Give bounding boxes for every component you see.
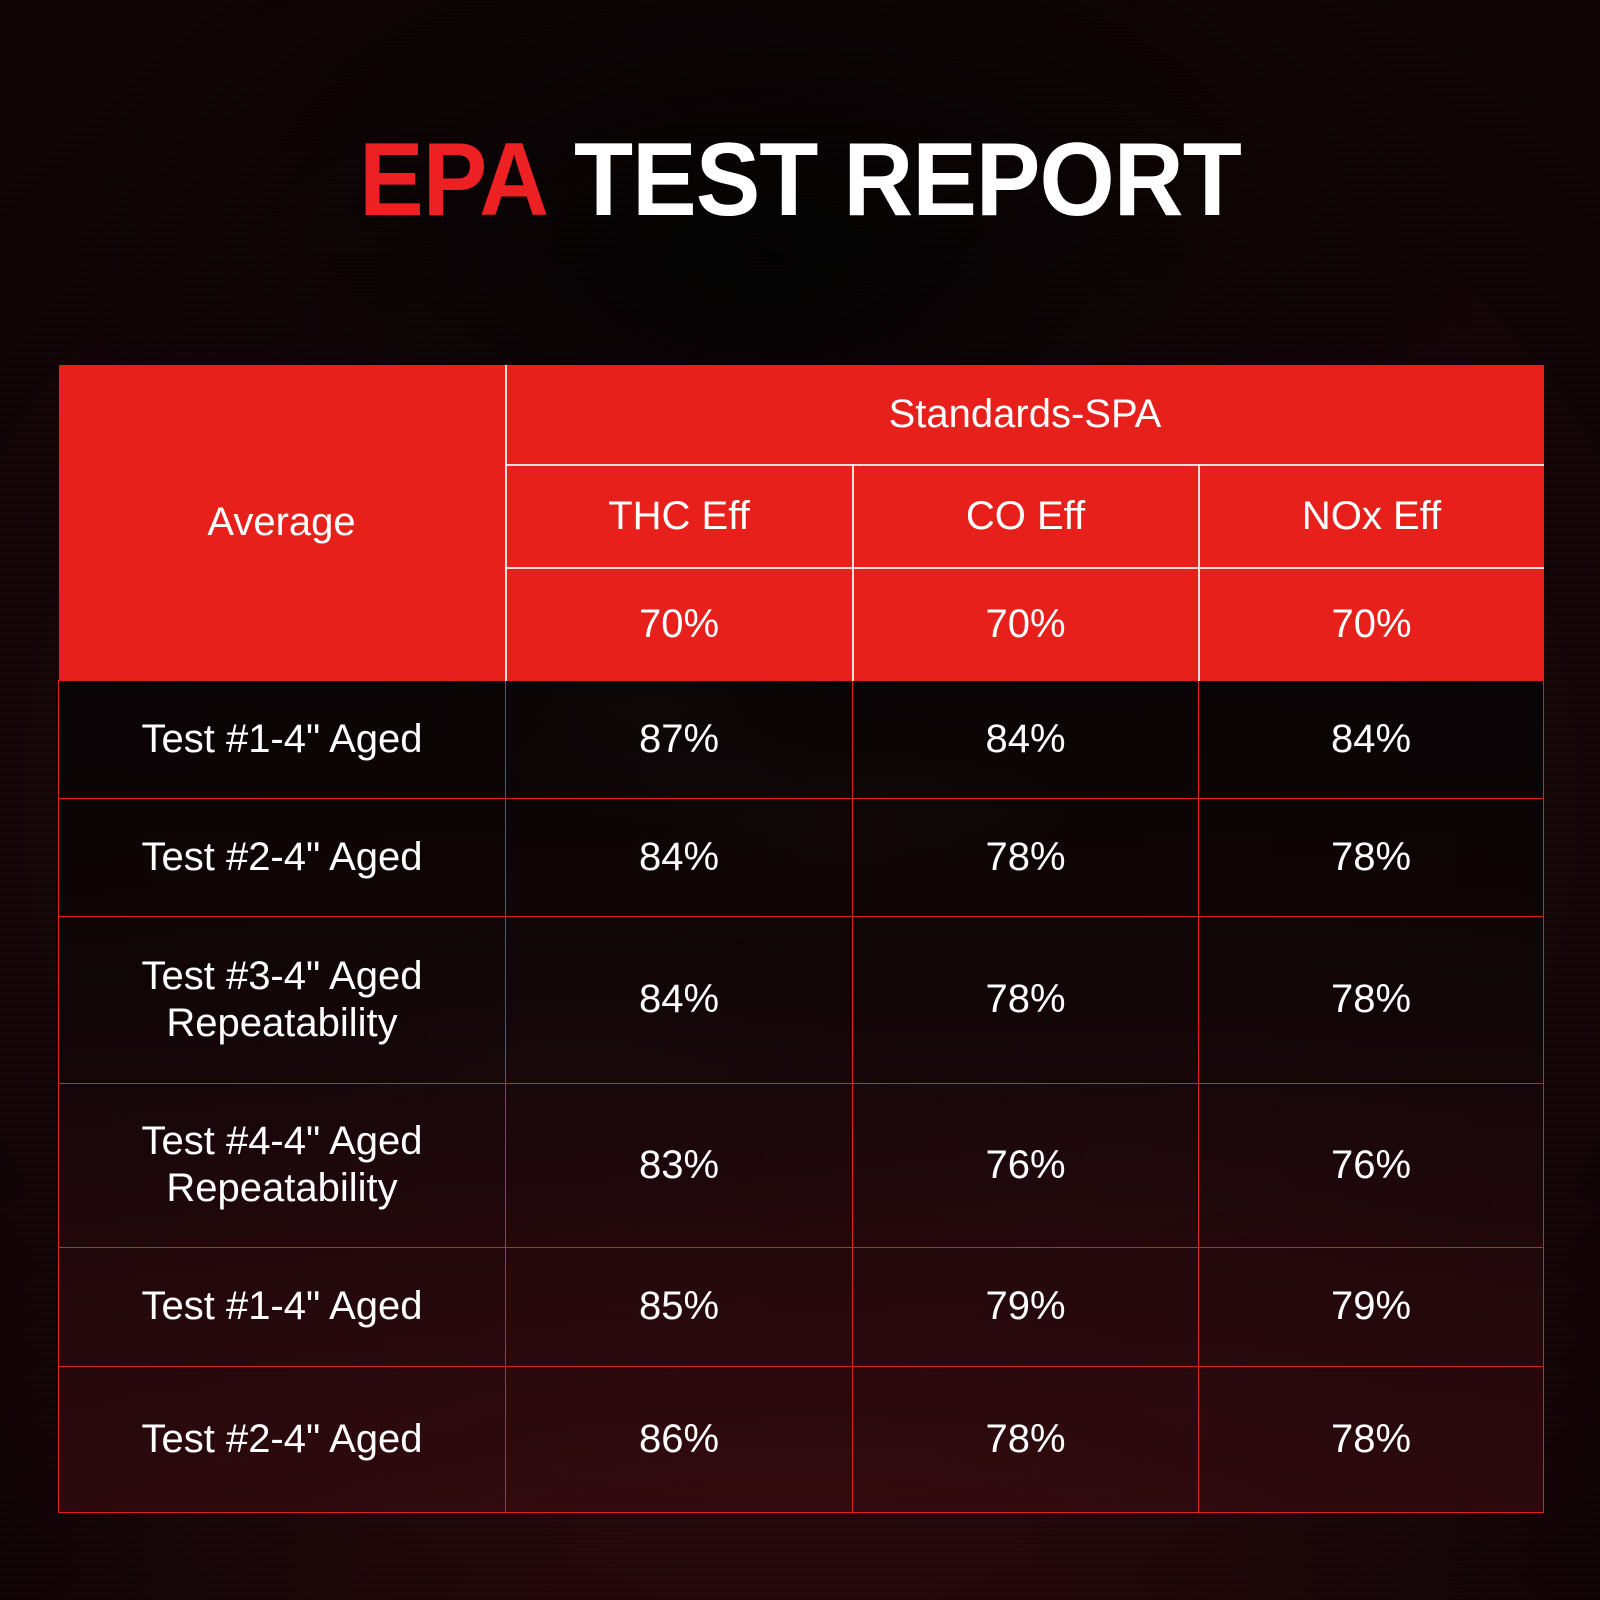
row-label: Test #2-4" Aged xyxy=(59,1366,506,1512)
cell-co: 78% xyxy=(853,798,1199,916)
table-row: Test #1-4" Aged 85% 79% 79% xyxy=(59,1248,1544,1366)
table-header: Average Standards-SPA THC Eff CO Eff NOx… xyxy=(59,365,1544,680)
standard-value-co: 70% xyxy=(853,568,1199,680)
page-title: EPA TEST REPORT xyxy=(56,128,1544,232)
table-row: Test #1-4" Aged 87% 84% 84% xyxy=(59,680,1544,798)
cell-nox: 79% xyxy=(1199,1248,1544,1366)
header-average-label: Average xyxy=(59,365,506,680)
row-label: Test #1-4" Aged xyxy=(59,680,506,798)
cell-co: 76% xyxy=(853,1083,1199,1247)
cell-nox: 76% xyxy=(1199,1083,1544,1247)
cell-thc: 87% xyxy=(506,680,853,798)
title-accent: EPA xyxy=(359,122,548,238)
cell-thc: 84% xyxy=(506,917,853,1084)
cell-co: 78% xyxy=(853,1366,1199,1512)
row-label: Test #2-4" Aged xyxy=(59,798,506,916)
table-body: Test #1-4" Aged 87% 84% 84% Test #2-4" A… xyxy=(59,680,1544,1513)
cell-co: 84% xyxy=(853,680,1199,798)
standard-value-nox: 70% xyxy=(1199,568,1544,680)
table-row: Test #2-4" Aged 86% 78% 78% xyxy=(59,1366,1544,1512)
cell-co: 79% xyxy=(853,1248,1199,1366)
header-row-group: Average Standards-SPA xyxy=(59,365,1544,465)
table-row: Test #4-4" Aged Repeatability 83% 76% 76… xyxy=(59,1083,1544,1247)
cell-nox: 78% xyxy=(1199,798,1544,916)
cell-nox: 78% xyxy=(1199,917,1544,1084)
table-row: Test #3-4" Aged Repeatability 84% 78% 78… xyxy=(59,917,1544,1084)
header-standards-spa: Standards-SPA xyxy=(506,365,1544,465)
table-row: Test #2-4" Aged 84% 78% 78% xyxy=(59,798,1544,916)
cell-co: 78% xyxy=(853,917,1199,1084)
row-label: Test #4-4" Aged Repeatability xyxy=(59,1083,506,1247)
column-header-nox: NOx Eff xyxy=(1199,465,1544,568)
row-label: Test #1-4" Aged xyxy=(59,1248,506,1366)
title-rest: TEST REPORT xyxy=(574,122,1241,238)
standard-value-thc: 70% xyxy=(506,568,853,680)
cell-thc: 85% xyxy=(506,1248,853,1366)
column-header-co: CO Eff xyxy=(853,465,1199,568)
cell-thc: 83% xyxy=(506,1083,853,1247)
cell-nox: 78% xyxy=(1199,1366,1544,1512)
cell-thc: 86% xyxy=(506,1366,853,1512)
cell-thc: 84% xyxy=(506,798,853,916)
cell-nox: 84% xyxy=(1199,680,1544,798)
column-header-thc: THC Eff xyxy=(506,465,853,568)
row-label: Test #3-4" Aged Repeatability xyxy=(59,917,506,1084)
epa-test-report-table: Average Standards-SPA THC Eff CO Eff NOx… xyxy=(58,365,1544,1513)
